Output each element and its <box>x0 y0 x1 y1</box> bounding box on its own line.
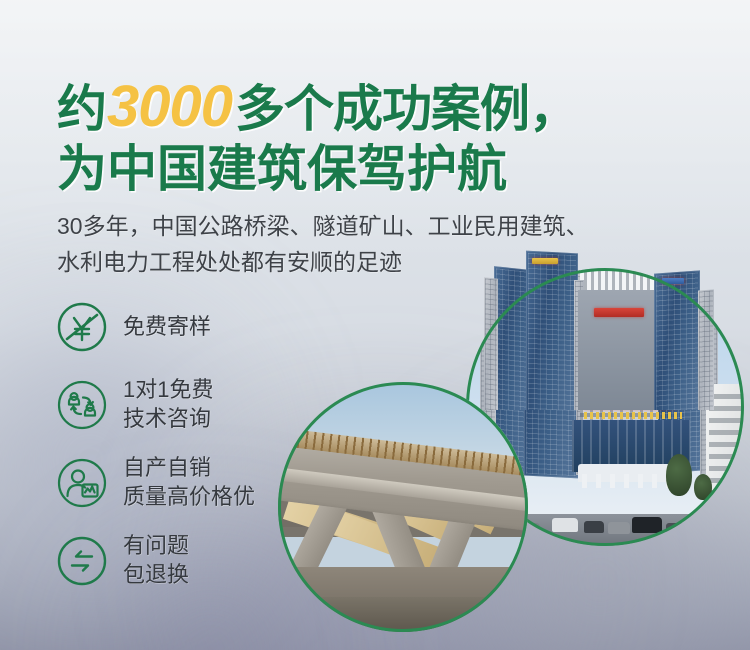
headline-prefix: 约 <box>57 81 106 137</box>
feature-label: 1对1免费 技术咨询 <box>123 376 213 433</box>
headline-line-2: 为中国建筑保驾护航 <box>57 144 578 194</box>
feature-label-line-1: 自产自销 <box>123 454 255 483</box>
feature-label-line-1: 有问题 <box>123 532 189 561</box>
feature-item-free-sample[interactable]: 免费寄样 <box>56 296 255 358</box>
subtitle-line-1: 30多年，中国公路桥梁、隧道矿山、工业民用建筑、 <box>57 208 589 244</box>
bridge-photo <box>278 382 528 632</box>
self-produce-sell-icon <box>56 457 108 509</box>
feature-item-return-exchange[interactable]: 有问题 包退换 <box>56 530 255 592</box>
feature-label-line-1: 1对1免费 <box>123 376 213 405</box>
feature-label: 有问题 包退换 <box>123 532 189 589</box>
headline-suffix: 多个成功案例， <box>235 81 578 137</box>
feature-label-line-2: 技术咨询 <box>123 405 213 434</box>
feature-label-line-2: 质量高价格优 <box>123 483 255 512</box>
headline: 约3000多个成功案例， 为中国建筑保驾护航 <box>57 78 578 194</box>
feature-item-self-production[interactable]: 自产自销 质量高价格优 <box>56 452 255 514</box>
feature-label-line-2: 包退换 <box>123 561 189 590</box>
banner-root: 约3000多个成功案例， 为中国建筑保驾护航 30多年，中国公路桥梁、隧道矿山、… <box>0 0 750 650</box>
headline-number: 3000 <box>106 74 235 139</box>
exchange-return-icon <box>56 535 108 587</box>
feature-list: 免费寄样 1对1免费 技术咨询 <box>56 296 255 592</box>
feature-item-consulting[interactable]: 1对1免费 技术咨询 <box>56 374 255 436</box>
subtitle: 30多年，中国公路桥梁、隧道矿山、工业民用建筑、 水利电力工程处处都有安顺的足迹 <box>57 208 589 281</box>
feature-label-line-1: 免费寄样 <box>123 314 211 339</box>
feature-label: 免费寄样 <box>123 313 211 342</box>
headline-line-1: 约3000多个成功案例， <box>57 78 578 136</box>
subtitle-line-2: 水利电力工程处处都有安顺的足迹 <box>57 244 589 280</box>
no-fee-yen-icon <box>56 301 108 353</box>
feature-label: 自产自销 质量高价格优 <box>123 454 255 511</box>
one-to-one-consult-icon <box>56 379 108 431</box>
